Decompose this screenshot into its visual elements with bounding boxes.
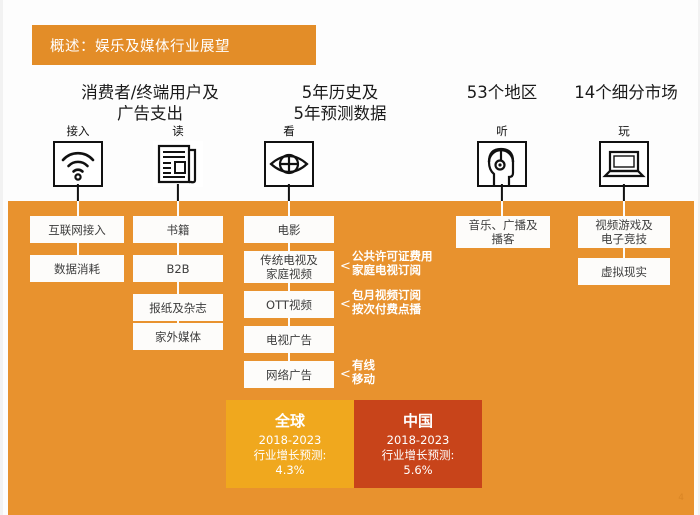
leaf-box-music-radio-podcast[interactable]: 音乐、广播及 播客 bbox=[456, 216, 550, 248]
stat-china-period: 2018-2023 bbox=[387, 433, 450, 448]
white-stem-watch bbox=[288, 201, 290, 216]
chevron-note-3: < bbox=[340, 368, 351, 381]
note-subscription-vod: 包月视频订阅 按次付费点播 bbox=[352, 288, 421, 316]
leaf-box-internet-advertising[interactable]: 网络广告 bbox=[244, 361, 334, 388]
white-stem-read-2 bbox=[177, 243, 179, 255]
leaf-box-newspapers-magazines[interactable]: 报纸及杂志 bbox=[133, 294, 223, 321]
icon-verb-listen: 听 bbox=[472, 125, 532, 138]
white-stem-watch-5 bbox=[288, 353, 290, 361]
eye-icon bbox=[264, 141, 314, 187]
note-public-license: 公共许可证费用 家庭电视订阅 bbox=[352, 249, 433, 277]
icon-group-listen: 听 bbox=[472, 125, 532, 187]
white-stem-play-2 bbox=[623, 248, 625, 258]
icon-group-watch: 看 bbox=[259, 125, 319, 187]
white-stem-watch-2 bbox=[288, 243, 290, 251]
column-header-data: 5年历史及 5年预测数据 bbox=[250, 82, 430, 124]
white-stem-play bbox=[623, 201, 625, 216]
column-header-segments: 14个细分市场 bbox=[558, 82, 694, 103]
leaf-box-b2b[interactable]: B2B bbox=[133, 255, 223, 282]
white-stem-listen bbox=[501, 201, 503, 216]
note-wired-mobile: 有线 移动 bbox=[352, 358, 375, 386]
white-stem-watch-4 bbox=[288, 318, 290, 326]
icon-verb-watch: 看 bbox=[259, 125, 319, 138]
column-header-territories: 53个地区 bbox=[443, 82, 561, 103]
white-stem-access bbox=[77, 201, 79, 216]
slide-title-text: 概述：娱乐及媒体行业展望 bbox=[50, 35, 230, 56]
white-stem-watch-3 bbox=[288, 283, 290, 291]
stat-china-label: 行业增长预测: bbox=[382, 448, 455, 463]
icon-verb-read: 读 bbox=[148, 125, 208, 138]
white-stem-access-2 bbox=[77, 243, 79, 255]
leaf-box-film[interactable]: 电影 bbox=[244, 216, 334, 243]
icon-group-access: 接入 bbox=[48, 125, 108, 187]
column-header-consumer: 消费者/终端用户及 广告支出 bbox=[30, 82, 270, 124]
white-stem-read bbox=[177, 201, 179, 216]
wifi-icon bbox=[53, 141, 103, 187]
leaf-box-internet-access[interactable]: 互联网接入 bbox=[30, 216, 124, 243]
stat-global-period: 2018-2023 bbox=[259, 433, 322, 448]
icon-verb-access: 接入 bbox=[48, 125, 108, 138]
icon-verb-play: 玩 bbox=[594, 125, 654, 138]
leaf-box-ott-video[interactable]: OTT视频 bbox=[244, 291, 334, 318]
stat-global-value: 4.3% bbox=[275, 463, 304, 478]
leaf-box-virtual-reality[interactable]: 虚拟现实 bbox=[578, 258, 670, 285]
leaf-box-video-games-esports[interactable]: 视频游戏及 电子竞技 bbox=[578, 216, 670, 248]
icon-group-read: 读 bbox=[148, 125, 208, 187]
stat-global-label: 行业增长预测: bbox=[254, 448, 327, 463]
stat-global-name: 全球 bbox=[275, 411, 305, 431]
newspaper-icon bbox=[153, 141, 203, 187]
stat-china-name: 中国 bbox=[403, 411, 433, 431]
stat-panel-china: 中国 2018-2023 行业增长预测: 5.6% bbox=[354, 400, 482, 488]
leaf-box-traditional-tv-home-video[interactable]: 传统电视及 家庭视频 bbox=[244, 251, 334, 283]
white-stem-read-3 bbox=[177, 282, 179, 294]
leaf-box-data-consumption[interactable]: 数据消耗 bbox=[30, 255, 124, 282]
leaf-box-out-of-home[interactable]: 家外媒体 bbox=[133, 323, 223, 350]
laptop-icon bbox=[599, 141, 649, 187]
slide-canvas: 概述：娱乐及媒体行业展望 消费者/终端用户及 广告支出 5年历史及 5年预测数据… bbox=[0, 0, 700, 515]
headphones-head-icon bbox=[477, 141, 527, 187]
stat-china-value: 5.6% bbox=[403, 463, 432, 478]
icon-group-play: 玩 bbox=[594, 125, 654, 187]
page-number: 4 bbox=[678, 493, 684, 503]
chevron-note-2: < bbox=[340, 298, 351, 311]
leaf-box-tv-advertising[interactable]: 电视广告 bbox=[244, 326, 334, 353]
leaf-box-books[interactable]: 书籍 bbox=[133, 216, 223, 243]
stat-panel-global: 全球 2018-2023 行业增长预测: 4.3% bbox=[226, 400, 354, 488]
chevron-note-1: < bbox=[340, 260, 351, 273]
slide-title-banner: 概述：娱乐及媒体行业展望 bbox=[32, 25, 316, 65]
